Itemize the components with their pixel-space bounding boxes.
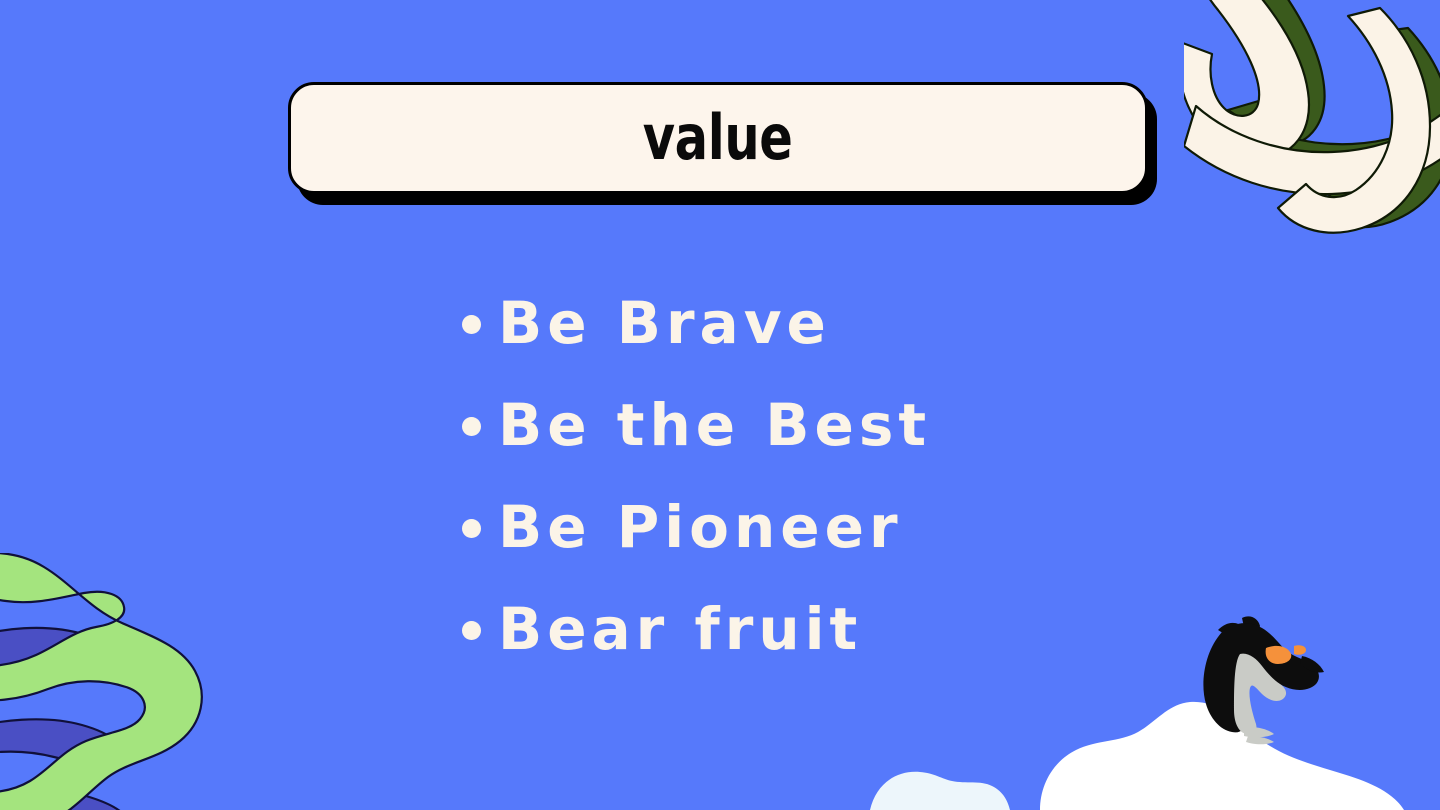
list-item-label: Be the Best <box>498 396 931 454</box>
list-item: Bear fruit <box>462 578 1162 680</box>
list-item-label: Bear fruit <box>498 600 862 658</box>
penguin-beak <box>1300 656 1324 673</box>
penguin-body <box>1203 623 1319 732</box>
list-item: Be the Best <box>462 374 1162 476</box>
bullet-dot-icon <box>462 315 481 334</box>
penguin-belly <box>1234 654 1286 735</box>
penguin-foot <box>1244 727 1274 737</box>
bullet-dot-icon <box>462 621 481 640</box>
abstract-squiggle-top-right <box>1184 0 1440 279</box>
penguin-cheek <box>1266 646 1292 664</box>
presentation-slide: value Be Brave Be the Best Be Pioneer Be… <box>0 0 1440 810</box>
list-item-label: Be Brave <box>498 294 831 352</box>
bullet-dot-icon <box>462 417 481 436</box>
penguin <box>1190 614 1330 749</box>
list-item-label: Be Pioneer <box>498 498 903 556</box>
snow-mounds <box>0 680 1440 810</box>
bullet-dot-icon <box>462 519 481 538</box>
page-title: value <box>643 107 793 169</box>
abstract-squiggle-bottom-left <box>0 553 215 810</box>
title-card: value <box>288 82 1148 194</box>
penguin-wing-icon <box>1218 623 1244 648</box>
list-item: Be Pioneer <box>462 476 1162 578</box>
bullet-list: Be Brave Be the Best Be Pioneer Bear fru… <box>462 272 1162 680</box>
list-item: Be Brave <box>462 272 1162 374</box>
